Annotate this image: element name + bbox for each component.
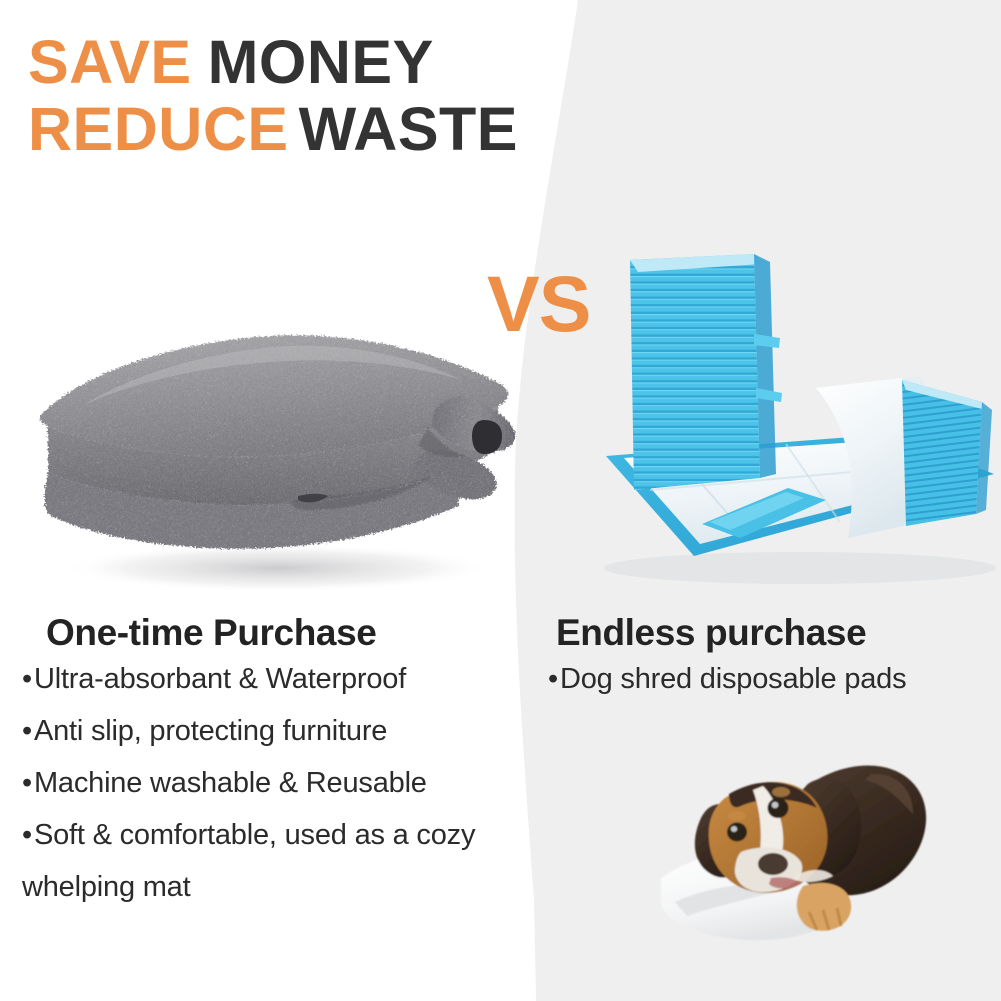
headline-line-2: REDUCEWASTE <box>28 101 518 159</box>
blanket-product-image <box>22 300 532 600</box>
headline-waste: WASTE <box>299 95 518 163</box>
list-item: • Soft & comfortable, used as a cozy <box>22 818 542 853</box>
headline-line-1: SAVEMONEY <box>28 34 518 92</box>
list-item: • Dog shred disposable pads <box>548 662 988 697</box>
puppy-photo <box>645 726 995 988</box>
right-bullet-list: • Dog shred disposable pads <box>548 662 988 697</box>
versus-label: VS <box>487 264 590 343</box>
list-item: • Ultra-absorbant & Waterproof <box>22 662 542 697</box>
list-item: • Machine washable & Reusable <box>22 766 542 801</box>
list-item-continuation: whelping mat <box>22 870 542 905</box>
headline-reduce: REDUCE <box>28 95 289 163</box>
list-item: • Anti slip, protecting furniture <box>22 714 542 749</box>
disposable-pads-product-image <box>590 238 1001 590</box>
left-feature-column: One-time Purchase • Ultra-absorbant & Wa… <box>22 612 542 921</box>
puppy-eye-right <box>768 798 789 818</box>
puppy-nose <box>758 853 788 875</box>
bullet-marker-icon: • <box>22 818 32 853</box>
left-bullet-list: • Ultra-absorbant & Waterproof • Anti sl… <box>22 662 542 904</box>
bullet-marker-icon: • <box>22 662 32 697</box>
page-title: SAVEMONEY REDUCEWASTE <box>28 34 518 159</box>
bullet-marker-icon: • <box>22 766 32 801</box>
headline-money: MONEY <box>208 28 434 96</box>
puppy-paw <box>797 883 851 931</box>
infographic-canvas: SAVEMONEY REDUCEWASTE VS <box>0 0 1001 1001</box>
headline-save: SAVE <box>28 28 192 96</box>
right-column-title: Endless purchase <box>548 612 988 653</box>
puppy-eye-left <box>727 823 747 842</box>
bullet-marker-icon: • <box>22 714 32 749</box>
left-column-title: One-time Purchase <box>22 612 542 653</box>
right-feature-column: Endless purchase • Dog shred disposable … <box>548 612 988 714</box>
bullet-marker-icon: • <box>548 662 558 697</box>
blanket-care-tag <box>472 420 502 454</box>
pad-stack-tall <box>630 254 760 490</box>
